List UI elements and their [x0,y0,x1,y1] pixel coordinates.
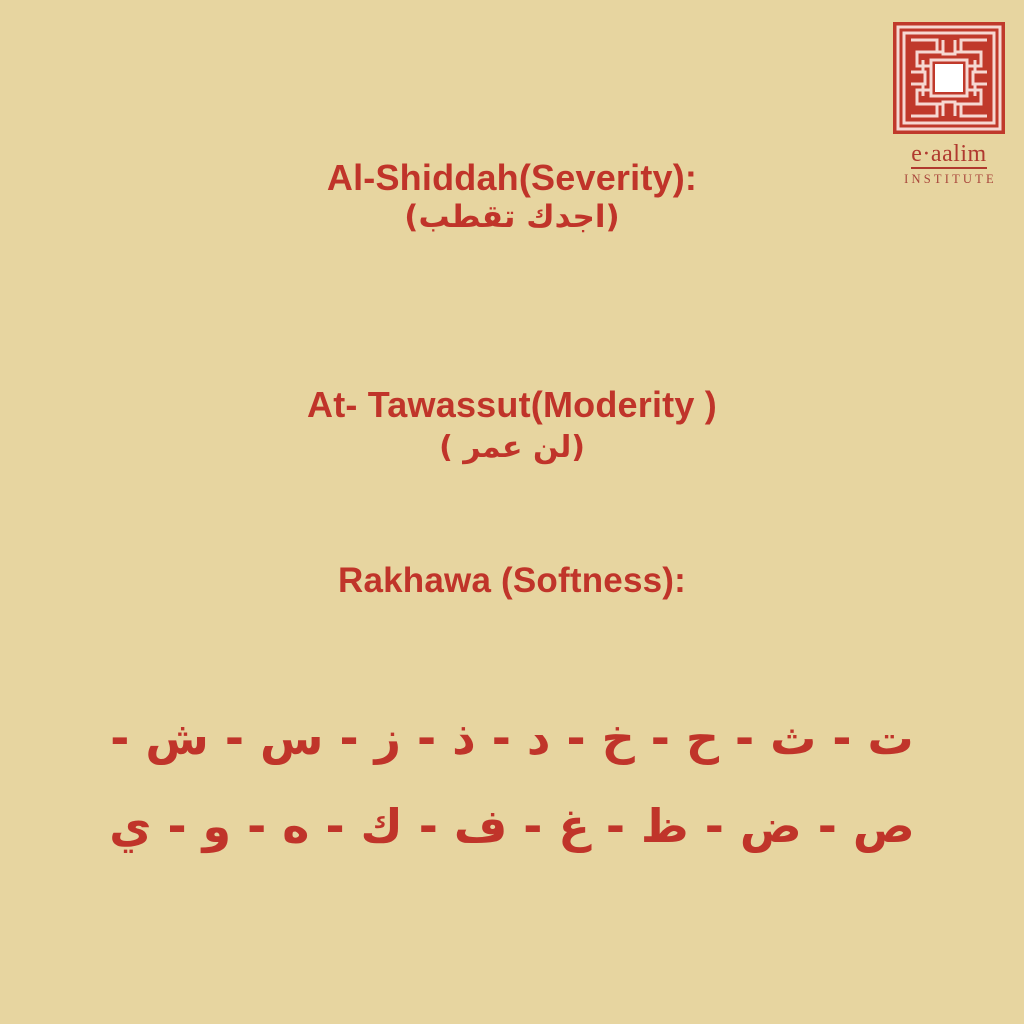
section-shiddah: Al-Shiddah(Severity): (اجدك تقطب) [0,158,1024,237]
letter-row-1: ت - ث - ح - خ - د - ذ - ز - س - ش - [0,694,1024,782]
section-tawassut: At- Tawassut(Moderity ) (لن عمر ) [0,385,1024,467]
section-rakhawa: Rakhawa (Softness): [0,561,1024,600]
section-tawassut-title: At- Tawassut(Moderity ) [0,385,1024,425]
section-tawassut-arabic-mnemonic: (لن عمر ) [0,429,1024,467]
rakhawa-letter-list: ت - ث - ح - خ - د - ذ - ز - س - ش - ص - … [0,694,1024,870]
poster-canvas: e·aalim INSTITUTE Al-Shiddah(Severity): … [0,0,1024,1024]
section-shiddah-title: Al-Shiddah(Severity): [0,158,1024,198]
letter-row-2: ص - ض - ظ - غ - ف - ك - ه - و - ي [0,782,1024,870]
section-rakhawa-title: Rakhawa (Softness): [0,561,1024,600]
section-shiddah-arabic-mnemonic: (اجدك تقطب) [0,198,1024,237]
square-kufic-logo-icon [893,22,1005,134]
